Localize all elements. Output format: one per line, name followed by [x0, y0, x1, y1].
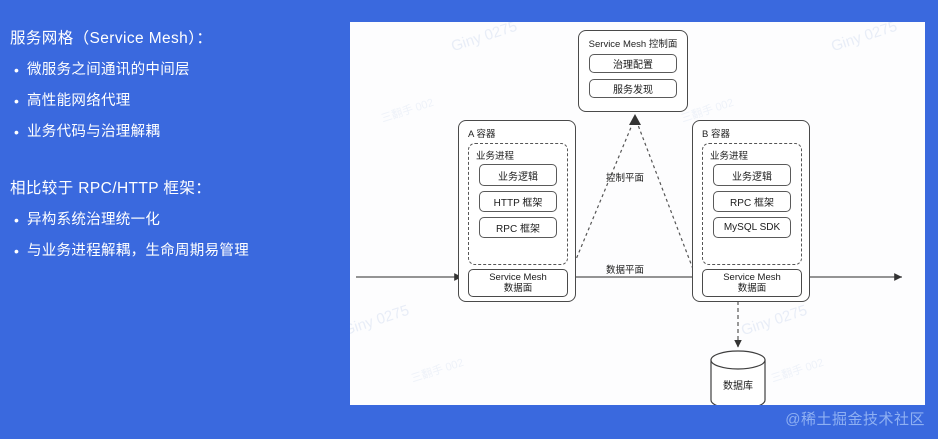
- list-item: • 与业务进程解耦，生命周期易管理: [10, 242, 338, 260]
- bullet-dot: •: [10, 211, 27, 229]
- bullet-label: 微服务之间通讯的中间层: [27, 61, 190, 79]
- control-plane-line-b: [638, 125, 693, 269]
- container-b-sidecar-service-mesh-dataplane[interactable]: Service Mesh 数据面: [702, 269, 802, 297]
- item-label: RPC 框架: [730, 194, 774, 209]
- control-plane-title: Service Mesh 控制面: [589, 31, 678, 50]
- container-a-item-rpc-framework[interactable]: RPC 框架: [479, 217, 557, 238]
- brand-watermark: @稀土掘金技术社区: [785, 408, 925, 429]
- bullet-label: 高性能网络代理: [27, 92, 131, 110]
- bullet-label: 与业务进程解耦，生命周期易管理: [27, 242, 249, 260]
- sidecar-line-1: Service Mesh: [723, 272, 781, 284]
- sidecar-line-2: 数据面: [738, 283, 767, 295]
- bullet-label: 业务代码与治理解耦: [27, 123, 160, 141]
- container-a-item-business-logic[interactable]: 业务逻辑: [479, 164, 557, 186]
- control-plane-line-a: [572, 125, 632, 269]
- slide-text-panel: 服务网格（Service Mesh）： • 微服务之间通讯的中间层 • 高性能网…: [0, 0, 350, 439]
- architecture-diagram-panel: Giny 0275 Giny 0275 Giny 0275 Giny 0275 …: [350, 22, 925, 405]
- item-label: HTTP 框架: [494, 194, 543, 209]
- section-rpc-http-comparison: 相比较于 RPC/HTTP 框架： • 异构系统治理统一化 • 与业务进程解耦，…: [10, 176, 338, 260]
- sidecar-line-1: Service Mesh: [489, 272, 547, 284]
- node-container-b[interactable]: B 容器 业务进程 业务逻辑 RPC 框架 MySQL SDK Service …: [692, 120, 810, 302]
- list-item: • 业务代码与治理解耦: [10, 123, 338, 141]
- container-a-item-http-framework[interactable]: HTTP 框架: [479, 191, 557, 212]
- bullet-dot: •: [10, 92, 27, 110]
- container-a-process-label: 业务进程: [476, 148, 514, 162]
- list-item: • 微服务之间通讯的中间层: [10, 61, 338, 79]
- control-plane-item-service-discovery[interactable]: 服务发现: [589, 79, 677, 98]
- container-b-title: B 容器: [693, 121, 730, 140]
- bullet-list: • 异构系统治理统一化 • 与业务进程解耦，生命周期易管理: [10, 211, 338, 260]
- sidecar-line-2: 数据面: [504, 283, 533, 295]
- section-divider-spacer: [10, 154, 338, 176]
- database-label: 数据库: [711, 377, 765, 392]
- section-heading: 服务网格（Service Mesh）：: [10, 26, 338, 48]
- container-a-title: A 容器: [459, 121, 495, 140]
- list-item: • 高性能网络代理: [10, 92, 338, 110]
- bullet-list: • 微服务之间通讯的中间层 • 高性能网络代理 • 业务代码与治理解耦: [10, 61, 338, 141]
- item-label: 治理配置: [613, 56, 653, 71]
- item-label: RPC 框架: [496, 220, 540, 235]
- control-plane-label: 控制平面: [606, 170, 644, 184]
- data-plane-label: 数据平面: [606, 262, 644, 276]
- container-b-item-mysql-sdk[interactable]: MySQL SDK: [713, 217, 791, 238]
- container-b-item-rpc-framework[interactable]: RPC 框架: [713, 191, 791, 212]
- section-heading: 相比较于 RPC/HTTP 框架：: [10, 176, 338, 198]
- node-service-mesh-control-plane[interactable]: Service Mesh 控制面 治理配置 服务发现: [578, 30, 688, 112]
- item-label: 业务逻辑: [498, 168, 538, 183]
- item-label: 服务发现: [613, 81, 653, 96]
- bullet-dot: •: [10, 61, 27, 79]
- section-service-mesh: 服务网格（Service Mesh）： • 微服务之间通讯的中间层 • 高性能网…: [10, 26, 338, 141]
- bullet-dot: •: [10, 242, 27, 260]
- item-label: 业务逻辑: [732, 168, 772, 183]
- container-b-item-business-logic[interactable]: 业务逻辑: [713, 164, 791, 186]
- bullet-dot: •: [10, 123, 27, 141]
- bullet-label: 异构系统治理统一化: [27, 211, 160, 229]
- control-plane-arrowhead: [629, 114, 641, 125]
- control-plane-item-governance-config[interactable]: 治理配置: [589, 54, 677, 73]
- container-a-sidecar-service-mesh-dataplane[interactable]: Service Mesh 数据面: [468, 269, 568, 297]
- list-item: • 异构系统治理统一化: [10, 211, 338, 229]
- container-b-process-label: 业务进程: [710, 148, 748, 162]
- item-label: MySQL SDK: [724, 222, 780, 233]
- node-container-a[interactable]: A 容器 业务进程 业务逻辑 HTTP 框架 RPC 框架 Service Me…: [458, 120, 576, 302]
